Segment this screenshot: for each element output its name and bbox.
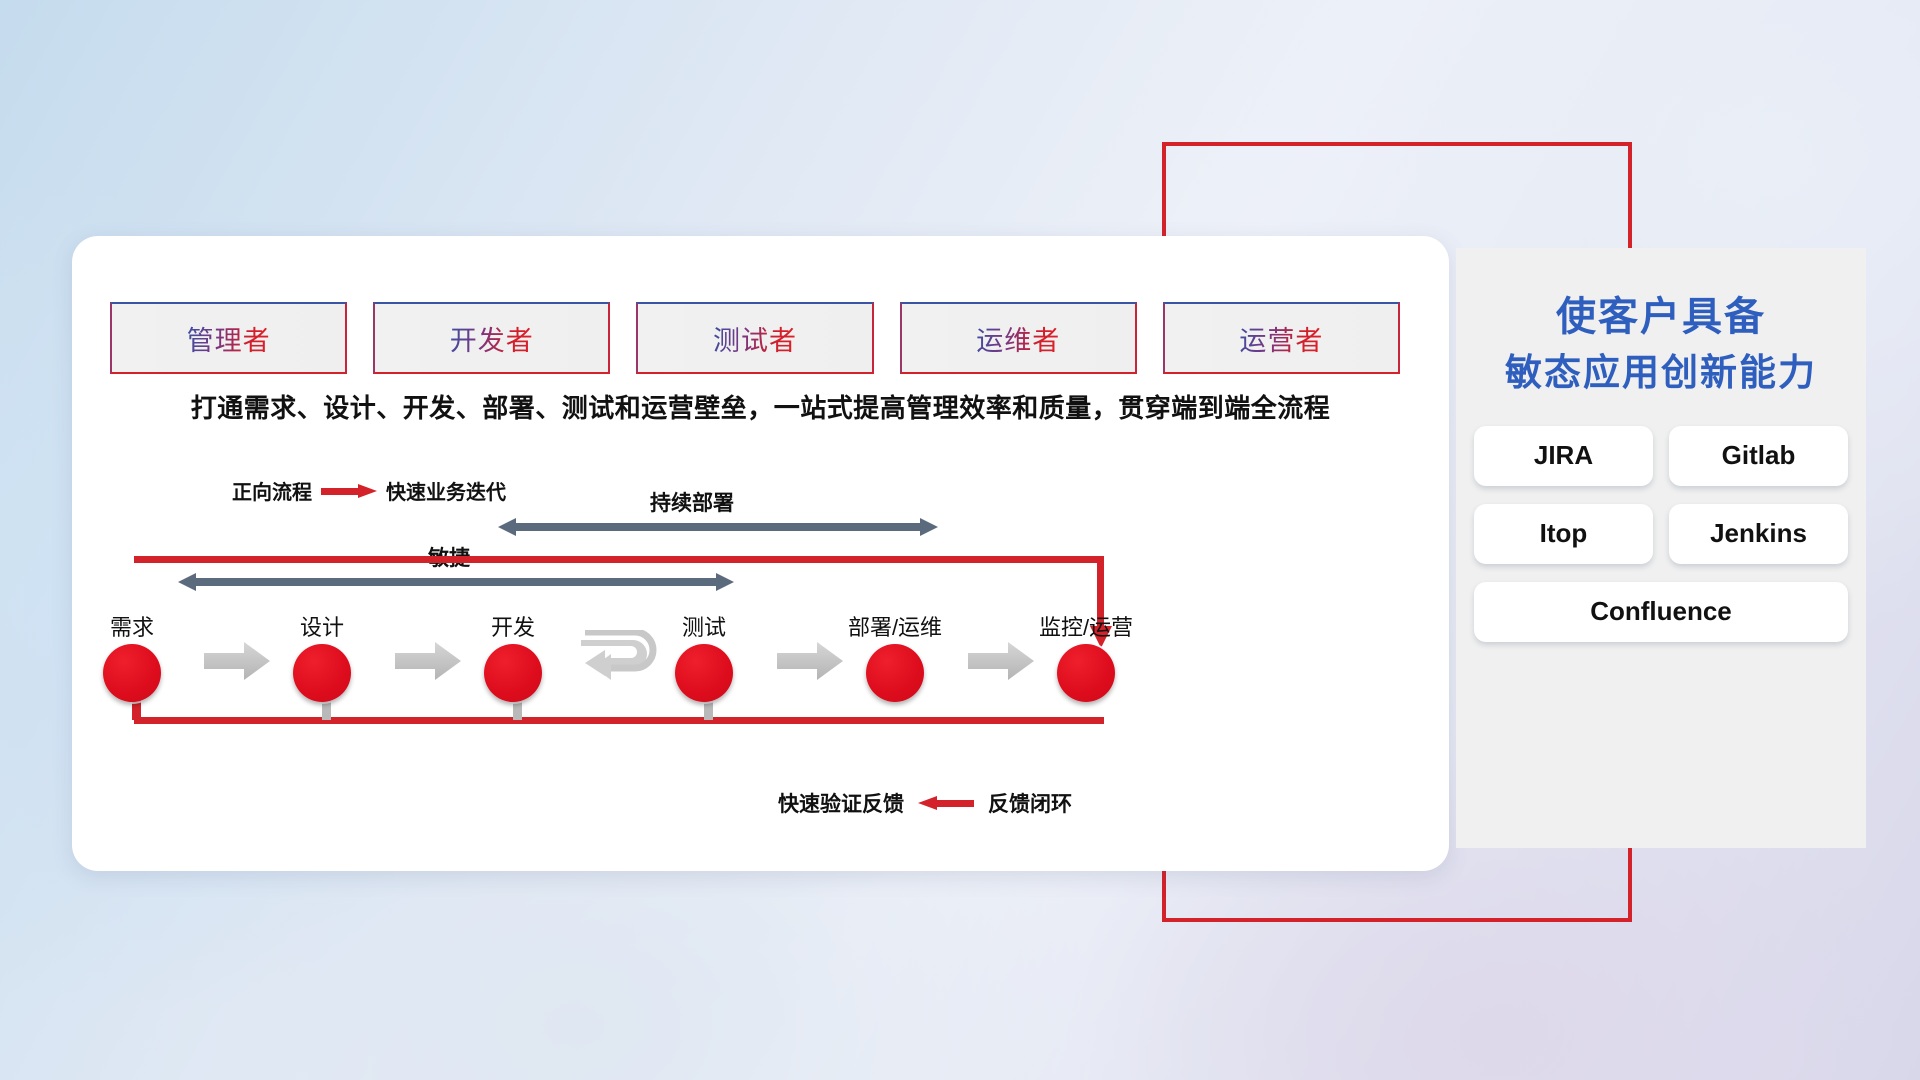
role-box-manager[interactable]: 管理者 bbox=[110, 302, 347, 374]
arrow-right-red-icon bbox=[321, 484, 377, 498]
loop-top-line bbox=[134, 556, 1104, 563]
slide-canvas: 管理者 开发者 测试者 运维者 运营者 打通需求、设计、开发、部署、测试和运营壁… bbox=[0, 0, 1920, 1080]
stage-dot-icon bbox=[103, 644, 161, 702]
role-label: 运营者 bbox=[1239, 319, 1323, 358]
stage-label: 测试 bbox=[649, 610, 759, 642]
value-proposition-panel: 使客户具备 敏态应用创新能力 JIRA Gitlab Itop Jenkins … bbox=[1456, 248, 1866, 848]
stage-label: 部署/运维 bbox=[840, 610, 950, 642]
flow-arrow-grey-icon bbox=[777, 642, 843, 680]
legend-forward-left-label: 正向流程 bbox=[232, 476, 312, 505]
double-arrow-continuous-deployment-icon bbox=[498, 518, 938, 536]
legend-feedback-loop: 快速验证反馈 反馈闭环 bbox=[778, 788, 1072, 818]
panel-heading-line2: 敏态应用创新能力 bbox=[1456, 346, 1866, 400]
pipeline-stage-development[interactable]: 开发 bbox=[458, 610, 568, 702]
stage-label: 设计 bbox=[267, 610, 377, 642]
pipeline-stage-design[interactable]: 设计 bbox=[267, 610, 377, 702]
tool-chip-gitlab[interactable]: Gitlab bbox=[1669, 426, 1848, 486]
pipeline-stage-monitor-operations[interactable]: 监控/运营 bbox=[1031, 610, 1141, 702]
role-box-ops[interactable]: 运维者 bbox=[900, 302, 1137, 374]
span-label-continuous-deployment: 持续部署 bbox=[650, 487, 734, 517]
description-text: 打通需求、设计、开发、部署、测试和运营壁垒，一站式提高管理效率和质量，贯穿端到端… bbox=[72, 388, 1449, 425]
role-box-tester[interactable]: 测试者 bbox=[636, 302, 873, 374]
flow-arrow-grey-icon bbox=[395, 642, 461, 680]
pipeline-stage-deploy-ops[interactable]: 部署/运维 bbox=[840, 610, 950, 702]
tool-chip-jira[interactable]: JIRA bbox=[1474, 426, 1653, 486]
stage-dot-icon bbox=[1057, 644, 1115, 702]
tool-chip-itop[interactable]: Itop bbox=[1474, 504, 1653, 564]
stage-dot-icon bbox=[866, 644, 924, 702]
arrow-left-red-icon bbox=[918, 796, 974, 810]
stage-dot-icon bbox=[675, 644, 733, 702]
stage-dot-icon bbox=[484, 644, 542, 702]
roles-row: 管理者 开发者 测试者 运维者 运营者 bbox=[110, 302, 1400, 374]
devops-pipeline: 需求 设计 开发 测试 bbox=[72, 610, 1449, 730]
pipeline-stage-test[interactable]: 测试 bbox=[649, 610, 759, 702]
legend-forward-flow: 正向流程 快速业务迭代 bbox=[232, 476, 506, 505]
tool-chip-jenkins[interactable]: Jenkins bbox=[1669, 504, 1848, 564]
panel-heading-line1: 使客户具备 bbox=[1456, 288, 1866, 346]
role-box-developer[interactable]: 开发者 bbox=[373, 302, 610, 374]
legend-forward-right-label: 快速业务迭代 bbox=[386, 476, 506, 505]
role-label: 测试者 bbox=[713, 319, 797, 358]
stage-label: 需求 bbox=[77, 610, 187, 642]
legend-feedback-left-label: 快速验证反馈 bbox=[778, 788, 904, 818]
role-label: 运维者 bbox=[976, 319, 1060, 358]
role-label: 管理者 bbox=[187, 319, 271, 358]
stage-dot-icon bbox=[293, 644, 351, 702]
pipeline-stage-requirements[interactable]: 需求 bbox=[77, 610, 187, 702]
stage-label: 监控/运营 bbox=[1031, 610, 1141, 642]
tool-chip-confluence[interactable]: Confluence bbox=[1474, 582, 1848, 642]
arrow-head-right-icon bbox=[920, 518, 938, 536]
legend-feedback-right-label: 反馈闭环 bbox=[988, 788, 1072, 818]
arrow-bar bbox=[513, 523, 923, 531]
panel-heading: 使客户具备 敏态应用创新能力 bbox=[1456, 288, 1866, 400]
flow-arrow-grey-icon bbox=[968, 642, 1034, 680]
flow-arrow-grey-icon bbox=[204, 642, 270, 680]
stage-label: 开发 bbox=[458, 610, 568, 642]
tool-chip-list: JIRA Gitlab Itop Jenkins Confluence bbox=[1474, 426, 1848, 642]
role-box-operations[interactable]: 运营者 bbox=[1163, 302, 1400, 374]
role-label: 开发者 bbox=[450, 319, 534, 358]
